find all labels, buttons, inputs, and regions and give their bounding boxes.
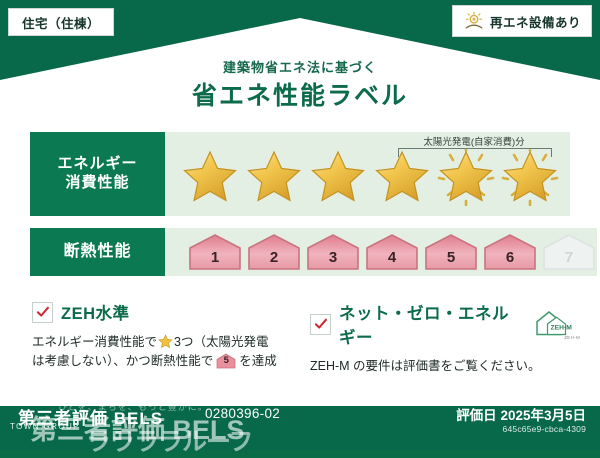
zeh-standard-description: エネルギー消費性能で3つ（太陽光発電は考慮しない）、かつ断熱性能で5を達成 (32, 333, 307, 372)
zeh-m-logo: ZEH-M ZEH-M (532, 309, 578, 339)
zeh-standard-checkbox[interactable] (32, 302, 53, 323)
zeh-standard-block: ZEH水準 エネルギー消費性能で3つ（太陽光発電は考慮しない）、かつ断熱性能で5… (32, 300, 307, 372)
energy-star-5 (435, 148, 497, 206)
footer-bels-number: 0280396-02 (205, 406, 280, 421)
zeh-desc-part2: 3つ（太陽光発電 (174, 335, 268, 349)
renewable-equipment-tag: 再エネ設備あり (452, 5, 592, 37)
insulation-badge-3: 3 (305, 233, 361, 271)
insulation-badge-value: 7 (565, 249, 573, 271)
insulation-badge-1: 1 (187, 233, 243, 271)
solar-generation-note: 太陽光発電(自家消費)分 (394, 134, 554, 148)
net-zero-energy-checkbox[interactable] (310, 314, 331, 335)
net-zero-energy-description: ZEH-M の要件は評価書をご覧ください。 (310, 357, 578, 376)
insulation-badge-5: 5 (423, 233, 479, 271)
zeh-standard-header: ZEH水準 (32, 300, 307, 324)
insulation-badge-value: 5 (447, 249, 455, 271)
footer-evaluation-date: 評価日 2025年3月5日 (456, 404, 586, 424)
energy-performance-label: エネルギー 消費性能 (30, 132, 165, 216)
energy-label-line1: エネルギー (57, 155, 137, 174)
net-zero-energy-block: ネット・ゼロ・エネルギー ZEH-M ZEH-M ZEH-M の要件は評価書をご… (310, 300, 578, 376)
insulation-level-badges: 1234567 (165, 233, 597, 271)
energy-performance-body: 太陽光発電(自家消費)分 (165, 132, 570, 216)
energy-star-4 (371, 148, 433, 206)
insulation-badge-6: 6 (482, 233, 538, 271)
insulation-badge-2: 2 (246, 233, 302, 271)
inline-star-icon (158, 334, 173, 349)
footer-document-id: 645c65e9-cbca-4309 (503, 424, 586, 434)
insulation-performance-label: 断熱性能 (30, 228, 165, 276)
insulation-badge-value: 4 (388, 249, 396, 271)
insulation-badge-value: 3 (329, 249, 337, 271)
energy-star-1 (179, 148, 241, 206)
insulation-performance-row: 断熱性能 1234567 (30, 228, 570, 276)
insulation-badge-4: 4 (364, 233, 420, 271)
zeh-m-logo-caption: ZEH-M (564, 335, 580, 340)
building-type-tag: 住宅（住棟） (8, 8, 114, 36)
energy-star-3 (307, 148, 369, 206)
label-title: 省エネ性能ラベル (0, 76, 600, 112)
inline-insulation-badge-icon: 5 (216, 353, 236, 369)
check-icon (36, 305, 50, 319)
net-zero-energy-header: ネット・ゼロ・エネルギー ZEH-M ZEH-M (310, 300, 578, 348)
renewable-equipment-tag-label: 再エネ設備あり (490, 12, 581, 31)
zeh-m-logo-text: ZEH-M (551, 324, 573, 331)
insulation-label-text: 断熱性能 (63, 242, 131, 262)
energy-star-2 (243, 148, 305, 206)
zeh-desc-part1: エネルギー消費性能で (32, 335, 157, 349)
energy-label-line2: 消費性能 (65, 174, 129, 193)
label-subtitle: 建築物省エネ法に基づく (0, 57, 600, 76)
zeh-standard-title: ZEH水準 (61, 300, 130, 324)
zeh-desc-part3: は考慮しない）、かつ断熱性能で (32, 354, 213, 368)
insulation-performance-body: 1234567 (165, 228, 597, 276)
inline-badge-value: 5 (216, 354, 236, 369)
energy-star-rating (165, 148, 561, 206)
town-group-logo: TOWN GROUP (10, 422, 80, 431)
check-icon (314, 317, 328, 331)
insulation-badge-value: 6 (506, 249, 514, 271)
insulation-badge-value: 1 (211, 249, 219, 271)
insulation-badge-value: 2 (270, 249, 278, 271)
renewable-sun-icon (463, 10, 485, 32)
energy-performance-row: エネルギー 消費性能 太陽光発電(自家消費)分 (30, 132, 570, 216)
energy-star-6 (499, 148, 561, 206)
label-root: 住宅（住棟） 再エネ設備あり 建築物省エネ法に基づく 省エネ性能ラベル (0, 0, 600, 450)
building-type-tag-label: 住宅（住棟） (22, 13, 100, 32)
insulation-badge-7: 7 (541, 233, 597, 271)
net-zero-energy-title: ネット・ゼロ・エネルギー (339, 300, 520, 348)
zeh-desc-part4: を達成 (239, 354, 277, 368)
